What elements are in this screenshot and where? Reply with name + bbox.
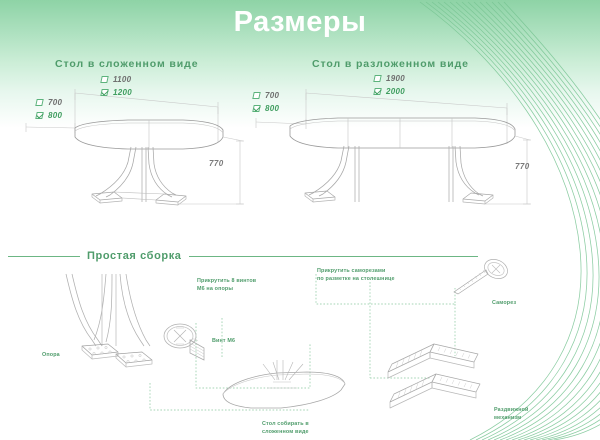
option-row[interactable]: 800 — [36, 110, 62, 121]
unfolded-depth-options: 700 800 — [253, 90, 279, 116]
section-heading-unfolded: Стол в разложенном виде — [312, 58, 469, 70]
option-row[interactable]: 800 — [253, 103, 279, 114]
assembly-section-divider: Простая сборка — [8, 250, 478, 262]
option-value: 1900 — [386, 74, 405, 83]
table-assembly-drawing — [215, 358, 350, 424]
unfolded-width-options: 1900 2000 — [374, 73, 405, 99]
checkbox-checked-icon[interactable] — [252, 105, 260, 112]
checkbox-unchecked-icon[interactable] — [100, 76, 108, 83]
callout-mechanism-label: Раздвижной механизм — [494, 406, 529, 422]
option-value: 2000 — [386, 87, 405, 96]
checkbox-checked-icon[interactable] — [35, 112, 43, 119]
assembly-heading: Простая сборка — [87, 250, 182, 262]
callout-bolt-label: Винт М6 — [212, 337, 235, 345]
bolt-m6-drawing — [160, 322, 212, 370]
checkbox-unchecked-icon[interactable] — [35, 99, 43, 106]
option-value: 1200 — [113, 88, 132, 97]
callout-self-tapper-label: Саморез — [492, 299, 516, 307]
checkbox-unchecked-icon[interactable] — [252, 92, 260, 99]
option-value: 700 — [265, 91, 279, 100]
callout-support-label: Опора — [42, 351, 60, 359]
folded-depth-options: 700 800 — [36, 97, 62, 123]
option-value: 800 — [265, 104, 279, 113]
page-title: Размеры — [0, 6, 600, 39]
option-row[interactable]: 1100 — [101, 74, 132, 85]
divider-rule-left — [8, 256, 80, 257]
self-tapping-screw-drawing — [450, 258, 514, 302]
callout-assemble-folded: Стол собирать в сложенном виде — [262, 420, 309, 436]
option-value: 800 — [48, 111, 62, 120]
checkbox-unchecked-icon[interactable] — [373, 75, 381, 82]
option-row[interactable]: 700 — [253, 90, 279, 101]
option-row[interactable]: 1200 — [101, 87, 132, 98]
folded-height-dimension: 770 — [209, 159, 224, 168]
divider-rule-right — [189, 256, 478, 257]
callout-screws-to-supports: Прикрутить 8 винтов М6 на опоры — [197, 277, 256, 293]
unfolded-table-drawing — [240, 84, 540, 212]
option-row[interactable]: 700 — [36, 97, 62, 108]
option-row[interactable]: 2000 — [374, 86, 405, 97]
callout-self-tapping-screws: Прикрутить саморезами по разметке на сто… — [317, 267, 395, 283]
checkbox-checked-icon[interactable] — [100, 89, 108, 96]
infographic-page: Размеры Стол в сложенном виде — [0, 0, 600, 440]
option-row[interactable]: 1900 — [374, 73, 405, 84]
section-heading-folded: Стол в сложенном виде — [55, 58, 198, 70]
checkbox-checked-icon[interactable] — [373, 88, 381, 95]
unfolded-height-dimension: 770 — [515, 162, 530, 171]
folded-width-options: 1100 1200 — [101, 74, 132, 100]
option-value: 700 — [48, 98, 62, 107]
extension-mechanism-drawing — [382, 340, 497, 410]
option-value: 1100 — [113, 75, 131, 84]
